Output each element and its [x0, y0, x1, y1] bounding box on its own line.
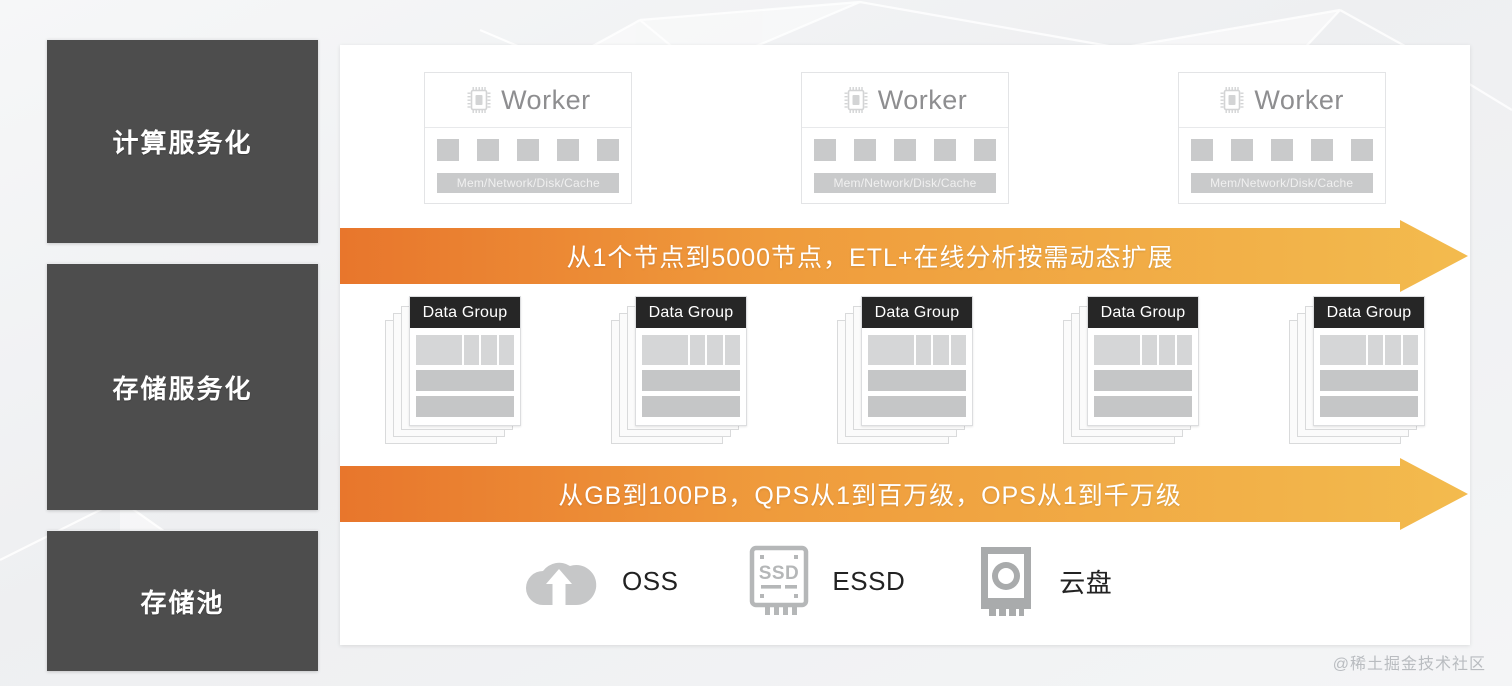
- data-group-card[interactable]: Data Group: [1087, 296, 1199, 426]
- worker-resource-bar: Mem/Network/Disk/Cache: [1191, 173, 1373, 193]
- data-group-bar: [1320, 370, 1418, 391]
- data-group-shard: [464, 335, 479, 365]
- worker-resource-square: [517, 139, 539, 161]
- worker-slot: Worker Mem/Network/Disk/Cache: [717, 72, 1094, 204]
- worker-body: Mem/Network/Disk/Cache: [1179, 128, 1385, 203]
- data-group-slot: Data Group: [792, 296, 1018, 444]
- worker-resource-squares: [1191, 139, 1373, 161]
- data-group-header: Data Group: [862, 297, 972, 328]
- data-group-slot: Data Group: [566, 296, 792, 444]
- worker-slot: Worker Mem/Network/Disk/Cache: [340, 72, 717, 204]
- data-group-label: Data Group: [1327, 304, 1412, 322]
- data-group-stack[interactable]: Data Group: [837, 296, 973, 444]
- data-group-shard: [707, 335, 722, 365]
- ssd-chip-icon: SSD: [748, 545, 810, 617]
- data-group-stack[interactable]: Data Group: [1063, 296, 1199, 444]
- worker-resource-square: [894, 139, 916, 161]
- worker-resource-square: [974, 139, 996, 161]
- data-group-label: Data Group: [649, 304, 734, 322]
- data-group-header: Data Group: [1088, 297, 1198, 328]
- data-group-shard: [1385, 335, 1400, 365]
- data-group-row: Data Group: [340, 296, 1470, 444]
- slide-canvas: 计算服务化 存储服务化 存储池: [0, 0, 1512, 686]
- data-group-slot: Data Group: [1244, 296, 1470, 444]
- data-group-shard-row: [416, 335, 514, 365]
- data-group-content: [1314, 328, 1424, 425]
- worker-body: Mem/Network/Disk/Cache: [425, 128, 631, 203]
- storage-item-label: OSS: [622, 566, 678, 597]
- storage-item-cloud-disk[interactable]: 云盘: [975, 545, 1112, 617]
- sidebar-item-label: 计算服务化: [112, 123, 252, 160]
- data-group-shard: [1159, 335, 1174, 365]
- cloud-upload-icon: [518, 547, 600, 615]
- worker-box[interactable]: Worker Mem/Network/Disk/Cache: [801, 72, 1009, 204]
- sidebar-item-label: 存储池: [140, 583, 224, 620]
- worker-header: Worker: [802, 73, 1008, 128]
- worker-resource-square: [854, 139, 876, 161]
- worker-slot: Worker Mem/Network/Disk/Cache: [1093, 72, 1470, 204]
- data-group-shard: [916, 335, 931, 365]
- sidebar-item-storage-servicization[interactable]: 存储服务化: [47, 263, 318, 510]
- sidebar-item-label: 存储服务化: [112, 369, 252, 406]
- scaling-arrow-storage: 从GB到100PB，QPS从1到百万级，OPS从1到千万级: [340, 458, 1468, 530]
- worker-resource-squares: [437, 139, 619, 161]
- worker-resource-bar-label: Mem/Network/Disk/Cache: [833, 176, 976, 190]
- data-group-stack[interactable]: Data Group: [611, 296, 747, 444]
- data-group-card[interactable]: Data Group: [635, 296, 747, 426]
- data-group-card[interactable]: Data Group: [1313, 296, 1425, 426]
- worker-row: Worker Mem/Network/Disk/Cache: [340, 72, 1470, 204]
- data-group-shard: [481, 335, 496, 365]
- cpu-chip-icon: [1219, 86, 1245, 114]
- worker-resource-square: [437, 139, 459, 161]
- data-group-shard-row: [1320, 335, 1418, 365]
- worker-resource-square: [934, 139, 956, 161]
- data-group-card[interactable]: Data Group: [409, 296, 521, 426]
- data-group-label: Data Group: [423, 304, 508, 322]
- data-group-bar: [1320, 396, 1418, 417]
- sidebar-item-compute-servicization[interactable]: 计算服务化: [47, 39, 318, 243]
- storage-item-label: ESSD: [832, 566, 905, 597]
- data-group-shard-row: [1094, 335, 1192, 365]
- data-group-header: Data Group: [636, 297, 746, 328]
- storage-pool-row: OSS SSD ESSD: [340, 538, 1470, 624]
- worker-body: Mem/Network/Disk/Cache: [802, 128, 1008, 203]
- svg-text:SSD: SSD: [759, 563, 800, 584]
- hard-disk-icon: [975, 545, 1037, 617]
- data-group-stack[interactable]: Data Group: [1289, 296, 1425, 444]
- cpu-chip-icon: [843, 86, 869, 114]
- storage-item-essd[interactable]: SSD ESSD: [748, 545, 905, 617]
- data-group-shard-row: [642, 335, 740, 365]
- data-group-shard: [1094, 335, 1140, 365]
- data-group-content: [862, 328, 972, 425]
- storage-item-label: 云盘: [1059, 563, 1112, 600]
- data-group-shard: [951, 335, 966, 365]
- data-group-shard: [1142, 335, 1157, 365]
- data-group-stack[interactable]: Data Group: [385, 296, 521, 444]
- worker-resource-square: [1231, 139, 1253, 161]
- worker-resource-square: [1311, 139, 1333, 161]
- data-group-bar: [868, 396, 966, 417]
- data-group-header: Data Group: [1314, 297, 1424, 328]
- worker-resource-bar: Mem/Network/Disk/Cache: [814, 173, 996, 193]
- worker-resource-square: [477, 139, 499, 161]
- data-group-bar: [642, 396, 740, 417]
- storage-item-oss[interactable]: OSS: [518, 547, 678, 615]
- data-group-bar: [1094, 370, 1192, 391]
- worker-resource-square: [814, 139, 836, 161]
- data-group-bar: [1094, 396, 1192, 417]
- worker-resource-square: [557, 139, 579, 161]
- sidebar-item-storage-pool[interactable]: 存储池: [47, 530, 318, 671]
- worker-box[interactable]: Worker Mem/Network/Disk/Cache: [424, 72, 632, 204]
- sidebar: 计算服务化 存储服务化 存储池: [47, 39, 318, 647]
- data-group-label: Data Group: [1101, 304, 1186, 322]
- data-group-card[interactable]: Data Group: [861, 296, 973, 426]
- worker-resource-squares: [814, 139, 996, 161]
- watermark: @稀土掘金技术社区: [1333, 650, 1486, 674]
- data-group-content: [636, 328, 746, 425]
- data-group-slot: Data Group: [340, 296, 566, 444]
- data-group-shard: [933, 335, 948, 365]
- data-group-content: [410, 328, 520, 425]
- worker-resource-bar-label: Mem/Network/Disk/Cache: [457, 176, 600, 190]
- worker-resource-bar: Mem/Network/Disk/Cache: [437, 173, 619, 193]
- worker-resource-square: [597, 139, 619, 161]
- data-group-shard: [690, 335, 705, 365]
- data-group-shard-row: [868, 335, 966, 365]
- cpu-chip-icon: [466, 86, 492, 114]
- data-group-label: Data Group: [875, 304, 960, 322]
- data-group-shard: [868, 335, 914, 365]
- data-group-header: Data Group: [410, 297, 520, 328]
- data-group-shard: [1320, 335, 1366, 365]
- data-group-content: [1088, 328, 1198, 425]
- data-group-shard: [1368, 335, 1383, 365]
- data-group-bar: [416, 396, 514, 417]
- worker-title: Worker: [878, 85, 968, 116]
- data-group-shard: [725, 335, 740, 365]
- data-group-shard: [499, 335, 514, 365]
- worker-header: Worker: [1179, 73, 1385, 128]
- worker-box[interactable]: Worker Mem/Network/Disk/Cache: [1178, 72, 1386, 204]
- data-group-shard: [1177, 335, 1192, 365]
- data-group-bar: [416, 370, 514, 391]
- data-group-slot: Data Group: [1018, 296, 1244, 444]
- worker-header: Worker: [425, 73, 631, 128]
- data-group-shard: [642, 335, 688, 365]
- data-group-shard: [416, 335, 462, 365]
- data-group-bar: [868, 370, 966, 391]
- scaling-arrow-compute: 从1个节点到5000节点，ETL+在线分析按需动态扩展: [340, 220, 1468, 292]
- worker-title: Worker: [501, 85, 591, 116]
- worker-resource-square: [1271, 139, 1293, 161]
- worker-title: Worker: [1254, 85, 1344, 116]
- worker-resource-square: [1191, 139, 1213, 161]
- worker-resource-square: [1351, 139, 1373, 161]
- data-group-bar: [642, 370, 740, 391]
- data-group-shard: [1403, 335, 1418, 365]
- worker-resource-bar-label: Mem/Network/Disk/Cache: [1210, 176, 1353, 190]
